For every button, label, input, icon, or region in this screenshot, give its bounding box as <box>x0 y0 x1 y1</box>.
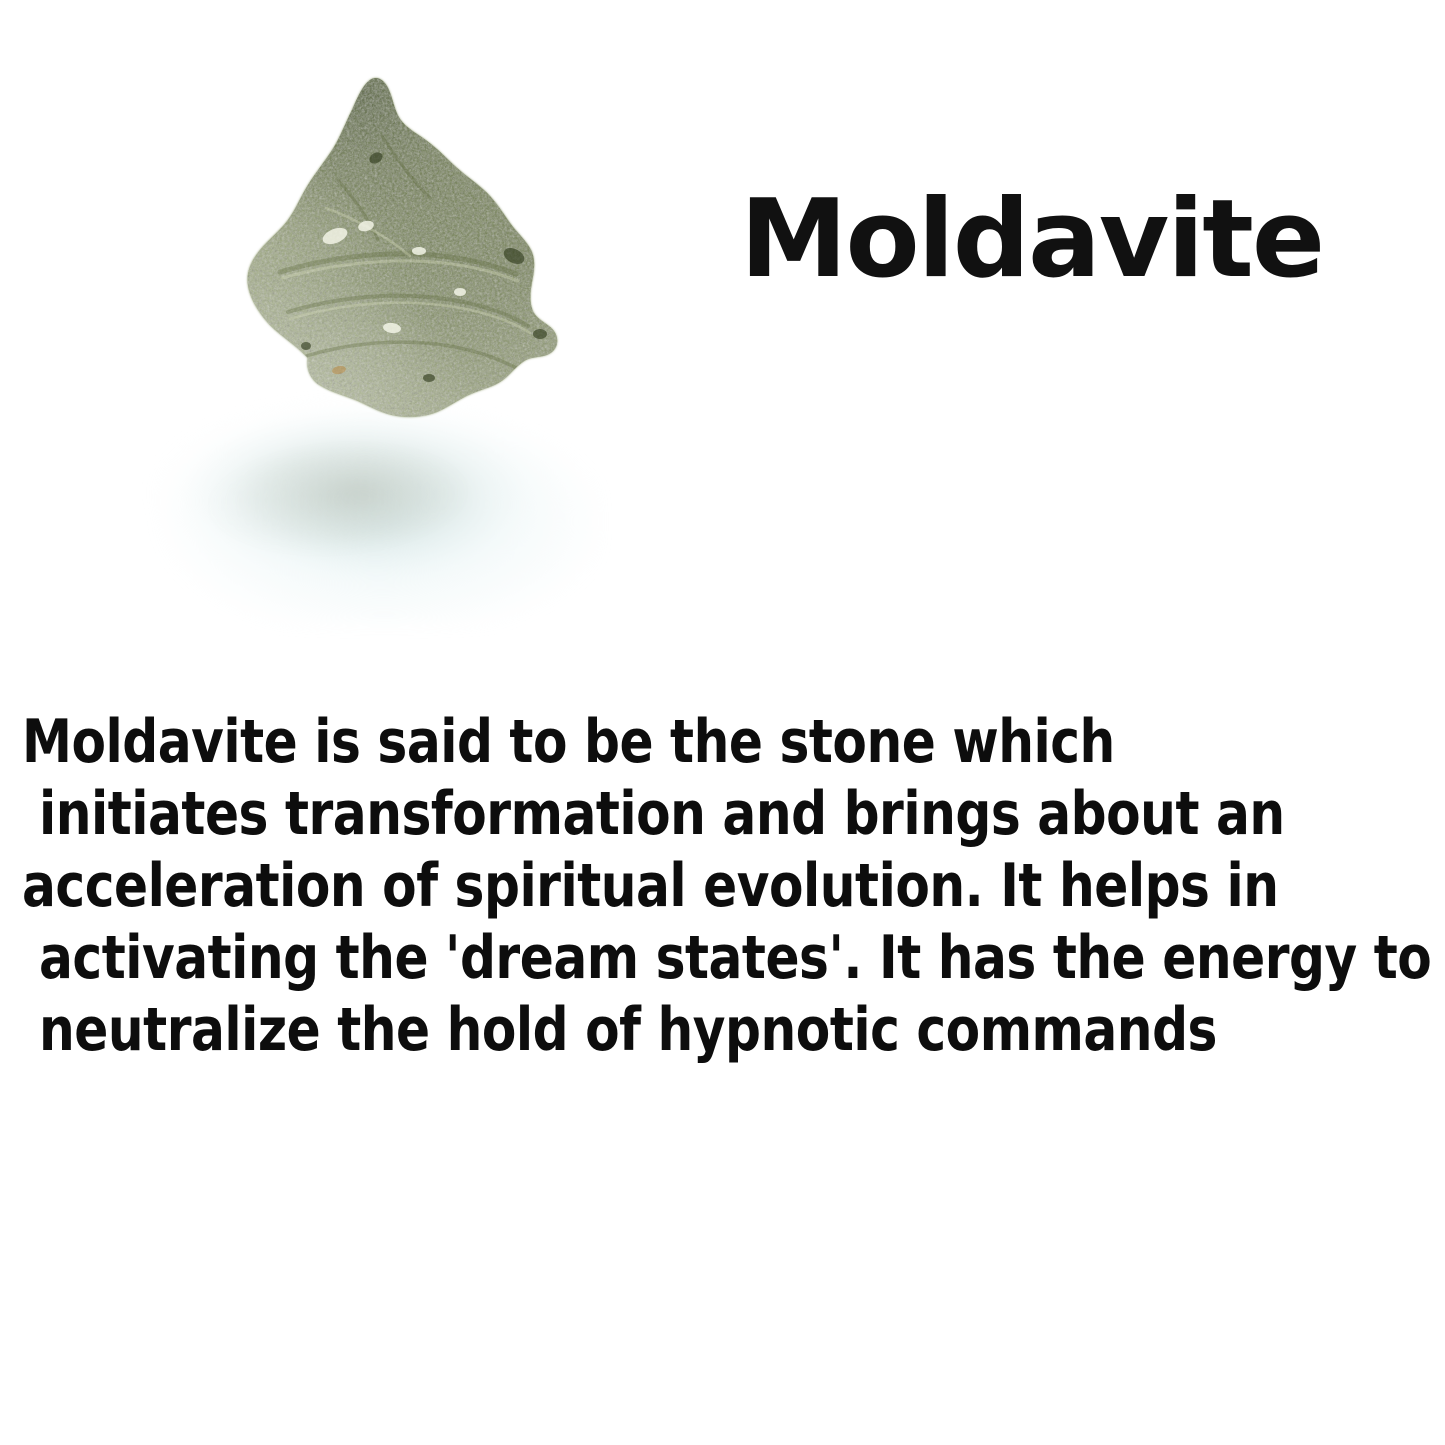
moldavite-stone-svg <box>130 40 580 470</box>
description-line: acceleration of spiritual evolution. It … <box>22 850 1324 922</box>
description-line: activating the 'dream states'. It has th… <box>22 922 1324 994</box>
moldavite-stone-image <box>130 40 580 470</box>
moldavite-photo <box>120 40 620 640</box>
description-paragraph: Moldavite is said to be the stone which … <box>22 706 1422 1066</box>
description-line: initiates transformation and brings abou… <box>22 778 1324 850</box>
description-line: neutralize the hold of hypnotic commands <box>22 994 1324 1066</box>
page-root: Moldavite Moldavite is said to be the st… <box>0 0 1445 1445</box>
stone-body <box>130 40 580 470</box>
description-line: Moldavite is said to be the stone which <box>22 706 1324 778</box>
page-title: Moldavite <box>740 185 1400 295</box>
